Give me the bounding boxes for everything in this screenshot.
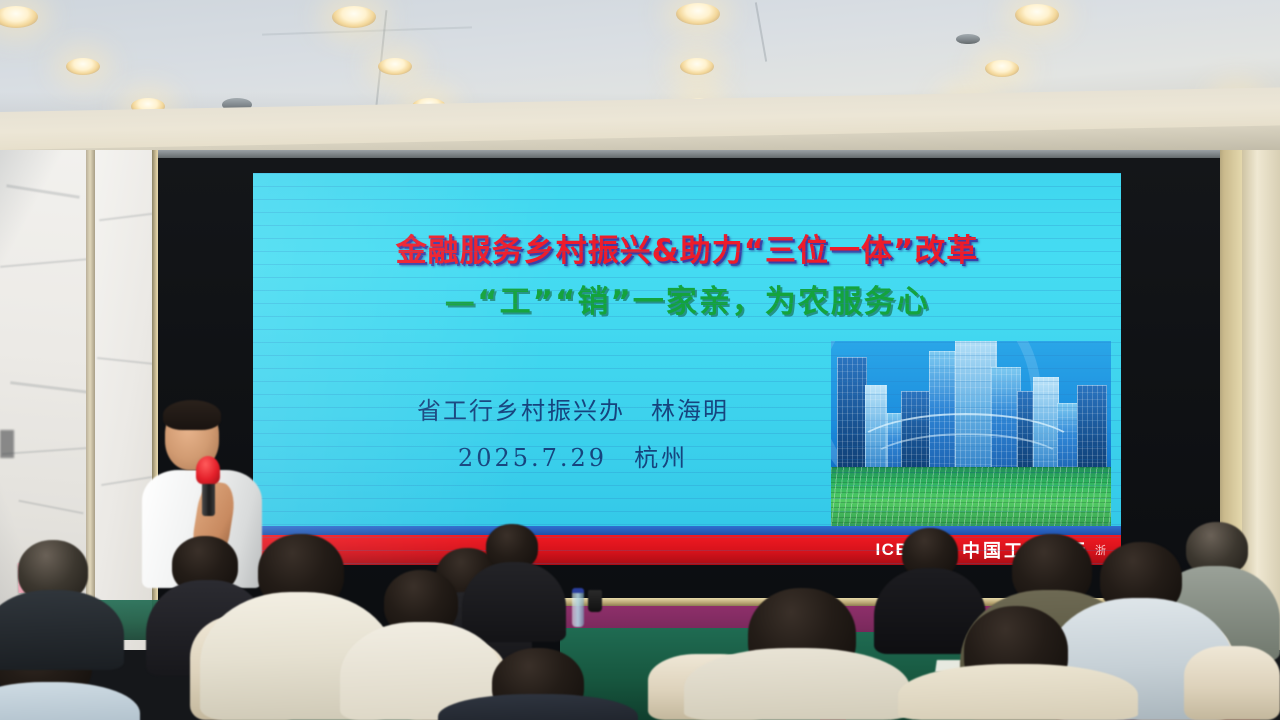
- slide-icbc-footer: ICBC 工 中国工商银行 浙: [253, 535, 1121, 565]
- cup-icon: [588, 590, 602, 612]
- downlight-icon: [66, 58, 100, 75]
- slide-date: 2025.7.29 杭州: [313, 438, 833, 473]
- slide-title: 金融服务乡村振兴&助力“三位一体”改革: [253, 225, 1121, 270]
- slide-blue-band: [253, 526, 1121, 535]
- slide-subtitle: —“工”“销”一家亲，为农服务心: [253, 276, 1121, 321]
- audience-body: [898, 664, 1138, 720]
- downlight-icon: [676, 3, 720, 25]
- ceiling-vent-icon: [956, 34, 980, 44]
- water-bottle-icon: [572, 588, 584, 627]
- city-green-field: [831, 467, 1111, 529]
- icbc-branch-label: 浙: [1095, 542, 1107, 558]
- microphone-head: [196, 456, 220, 484]
- slide-presenter: 省工行乡村振兴办 林海明: [313, 391, 833, 426]
- microphone-icon: [202, 480, 215, 516]
- slide-cityscape-image: [831, 341, 1111, 529]
- downlight-icon: [378, 58, 412, 75]
- downlight-icon: [332, 6, 376, 28]
- downlight-icon: [985, 60, 1019, 77]
- presentation-slide[interactable]: 金融服务乡村振兴&助力“三位一体”改革 —“工”“销”一家亲，为农服务心 省工行…: [253, 173, 1121, 565]
- chair: [1184, 646, 1280, 720]
- downlight-icon: [1015, 4, 1059, 26]
- speaker-hair: [163, 400, 221, 430]
- audience-body: [462, 562, 566, 642]
- downlight-icon: [680, 58, 714, 75]
- conference-room-scene: 金融服务乡村振兴&助力“三位一体”改革 —“工”“销”一家亲，为农服务心 省工行…: [0, 0, 1280, 720]
- audience-body: [684, 648, 910, 720]
- audience-body: [0, 682, 140, 720]
- wall-fixture: [0, 430, 14, 458]
